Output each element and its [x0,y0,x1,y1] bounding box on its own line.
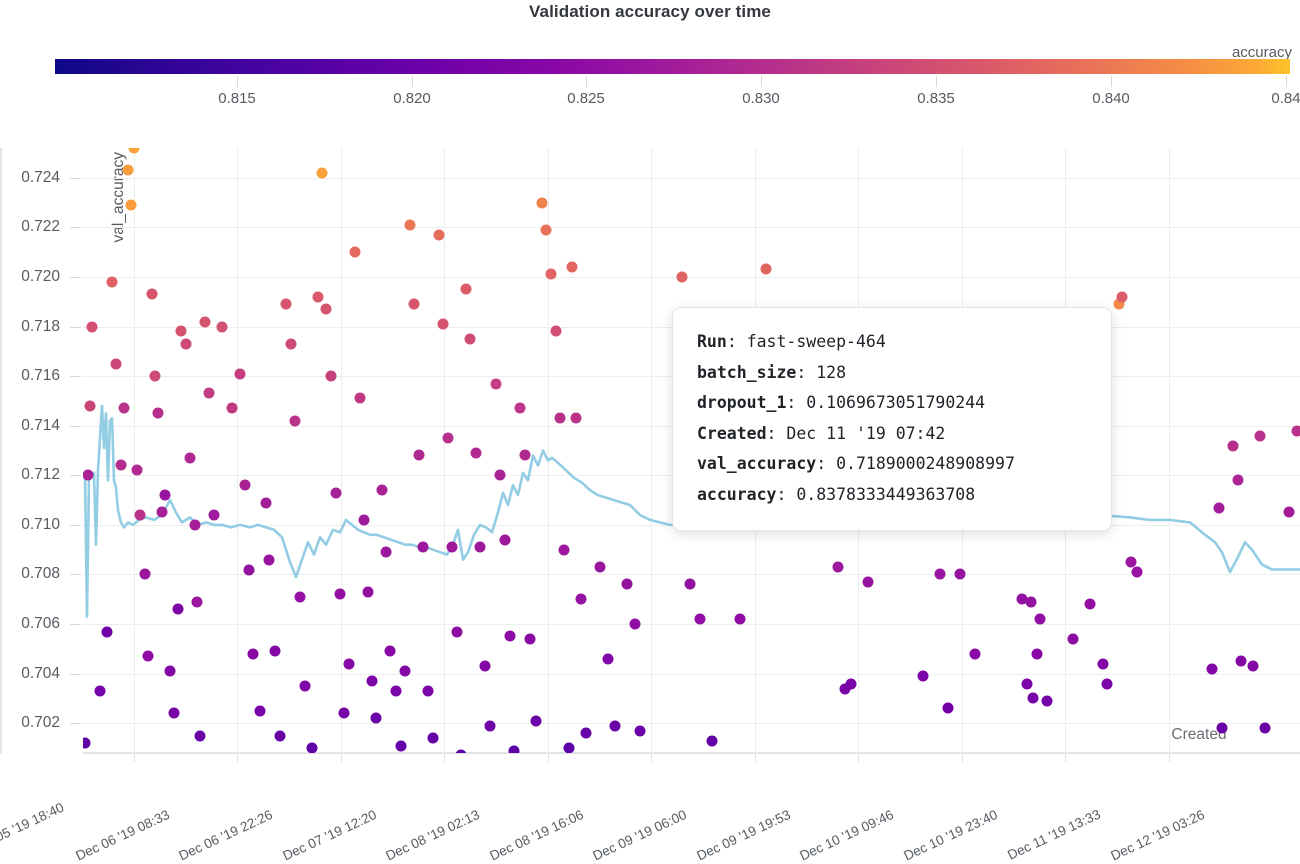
scatter-point[interactable] [571,413,582,424]
scatter-point[interactable] [377,485,388,496]
scatter-point[interactable] [423,686,434,697]
tooltip-value: 0.1069673051790244 [806,393,985,412]
scatter-point[interactable] [176,326,187,337]
scatter-point[interactable] [695,614,706,625]
scatter-point[interactable] [685,579,696,590]
chart-root: Validation accuracy over time accuracy 0… [0,0,1300,864]
x-tick-mark [1065,754,1066,762]
scatter-point[interactable] [735,614,746,625]
scatter-point[interactable] [1233,475,1244,486]
scatter-point[interactable] [438,319,449,330]
scatter-point[interactable] [400,666,411,677]
tooltip-row: batch_size: 128 [697,358,1087,389]
scatter-point[interactable] [935,569,946,580]
scatter-point[interactable] [418,542,429,553]
scatter-point[interactable] [414,450,425,461]
scatter-point[interactable] [339,708,350,719]
tooltip-separator: : [816,454,836,473]
scatter-point[interactable] [509,745,520,753]
scatter-point[interactable] [367,676,378,687]
scatter-point[interactable] [610,720,621,731]
scatter-point[interactable] [317,167,328,178]
x-tick-label: Dec 08 '19 16:06 [487,807,585,864]
scatter-point[interactable] [85,400,96,411]
x-tick-label: Dec 09 '19 19:53 [694,807,792,864]
x-tick-label: Dec 11 '19 13:33 [1005,807,1103,863]
scatter-point[interactable] [537,197,548,208]
scatter-point[interactable] [1255,430,1266,441]
scatter-point[interactable] [405,219,416,230]
x-tick-label: Dec 10 '19 09:46 [797,807,895,864]
scatter-point[interactable] [1032,648,1043,659]
scatter-point[interactable] [143,651,154,662]
y-tick-label: 0.710 [0,516,60,534]
scatter-point[interactable] [123,165,134,176]
scatter-point[interactable] [359,514,370,525]
tooltip-separator: : [727,332,747,351]
tooltip-row: accuracy: 0.8378333449363708 [697,480,1087,511]
colorbar-tick [936,76,937,87]
colorbar-tick [761,76,762,87]
scatter-point[interactable] [1085,599,1096,610]
y-tick-label: 0.708 [0,565,60,583]
scatter-point[interactable] [295,591,306,602]
colorbar-tick-label: 0.830 [742,90,780,107]
scatter-point[interactable] [147,289,158,300]
y-tick-mark [70,227,81,228]
y-tick-mark [70,327,81,328]
scatter-point[interactable] [480,661,491,672]
scatter-point[interactable] [603,653,614,664]
scatter-point[interactable] [240,480,251,491]
x-tick-mark [651,754,652,762]
y-tick-label: 0.704 [0,665,60,683]
tooltip-key: dropout_1 [697,393,786,412]
tooltip-value: 0.8378333449363708 [796,485,975,504]
colorbar-tick-label: 0.84 [1271,90,1300,107]
scatter-point[interactable] [918,671,929,682]
colorbar-tick-label: 0.815 [218,90,256,107]
colorbar-tick-label: 0.825 [567,90,605,107]
scatter-point[interactable] [132,465,143,476]
scatter-point[interactable] [1236,656,1247,667]
scatter-point[interactable] [173,604,184,615]
scatter-point[interactable] [119,403,130,414]
x-tick-mark [134,754,135,762]
scatter-point[interactable] [160,490,171,501]
scatter-point[interactable] [385,646,396,657]
scatter-point[interactable] [204,388,215,399]
tooltip-value: 0.7189000248908997 [836,454,1015,473]
scatter-point[interactable] [581,728,592,739]
scatter-point[interactable] [515,403,526,414]
scatter-point[interactable] [1292,425,1300,436]
tooltip-key: batch_size [697,363,796,382]
scatter-point[interactable] [1035,614,1046,625]
scatter-point[interactable] [833,562,844,573]
scatter-point[interactable] [630,619,641,630]
y-axis-line [0,148,2,754]
tooltip-separator: : [786,393,806,412]
y-tick-label: 0.718 [0,318,60,336]
x-tick-mark [548,754,549,762]
scatter-point[interactable] [970,648,981,659]
y-tick-label: 0.722 [0,218,60,236]
y-tick-mark [70,674,81,675]
scatter-point[interactable] [546,269,557,280]
tooltip-value: 128 [816,363,846,382]
x-tick-label: Dec 09 '19 06:00 [590,807,688,864]
scatter-point[interactable] [381,547,392,558]
scatter-point[interactable] [622,579,633,590]
colorbar-tick-label: 0.840 [1092,90,1130,107]
scatter-point[interactable] [261,497,272,508]
scatter-point[interactable] [452,626,463,637]
scatter-point[interactable] [428,733,439,744]
scatter-point[interactable] [567,262,578,273]
scatter-point[interactable] [107,276,118,287]
scatter-point[interactable] [475,542,486,553]
scatter-point[interactable] [495,470,506,481]
x-tick-label: c 05 '19 18:40 [0,800,66,849]
scatter-point[interactable] [264,554,275,565]
y-tick-mark [70,178,81,179]
scatter-point[interactable] [300,681,311,692]
x-tick-mark [755,754,756,762]
scatter-point[interactable] [559,544,570,555]
scatter-point[interactable] [87,321,98,332]
scatter-point[interactable] [248,648,259,659]
scatter-point[interactable] [102,626,113,637]
x-tick-label: Dec 10 '19 23:40 [901,807,999,864]
scatter-point[interactable] [863,576,874,587]
scatter-point[interactable] [525,633,536,644]
scatter-point[interactable] [1022,678,1033,689]
scatter-point[interactable] [1214,502,1225,513]
tooltip-row: val_accuracy: 0.7189000248908997 [697,449,1087,480]
scatter-point[interactable] [227,403,238,414]
x-tick-mark [237,754,238,762]
scatter-point[interactable] [1248,661,1259,672]
tooltip-value: Dec 11 '19 07:42 [786,424,945,443]
scatter-point[interactable] [1260,723,1271,734]
x-tick-label: Dec 06 '19 08:33 [73,807,171,864]
scatter-point[interactable] [363,586,374,597]
scatter-point[interactable] [391,686,402,697]
scatter-point[interactable] [350,247,361,258]
scatter-point[interactable] [111,358,122,369]
scatter-point[interactable] [270,646,281,657]
scatter-point[interactable] [275,730,286,741]
tooltip-separator: : [796,363,816,382]
y-tick-label: 0.724 [0,169,60,187]
colorbar-tick [1111,76,1112,87]
scatter-point[interactable] [1042,695,1053,706]
y-tick-label: 0.716 [0,367,60,385]
scatter-point[interactable] [331,487,342,498]
colorbar-tick [412,76,413,87]
scatter-point[interactable] [1217,723,1228,734]
scatter-point[interactable] [1026,596,1037,607]
scatter-point[interactable] [564,743,575,753]
x-tick-label: Dec 08 '19 02:13 [383,807,481,864]
scatter-point[interactable] [551,326,562,337]
scatter-point[interactable] [200,316,211,327]
scatter-point[interactable] [943,703,954,714]
scatter-point[interactable] [209,509,220,520]
scatter-point[interactable] [434,229,445,240]
y-tick-mark [70,277,81,278]
scatter-point[interactable] [326,371,337,382]
y-tick-mark [70,574,81,575]
scatter-point[interactable] [1068,633,1079,644]
tooltip-row: dropout_1: 0.1069673051790244 [697,388,1087,419]
scatter-point[interactable] [126,200,137,211]
y-tick-mark [70,376,81,377]
scatter-point[interactable] [447,542,458,553]
x-tick-mark [962,754,963,762]
scatter-point[interactable] [321,304,332,315]
scatter-point[interactable] [371,713,382,724]
scatter-point[interactable] [761,264,772,275]
x-tick-mark [1169,754,1170,762]
scatter-point[interactable] [116,460,127,471]
y-tick-mark [70,723,81,724]
scatter-point[interactable] [185,452,196,463]
scatter-point[interactable] [192,596,203,607]
scatter-point[interactable] [396,740,407,751]
scatter-point[interactable] [150,371,161,382]
colorbar-legend: accuracy 0.8150.8200.8250.8300.8350.8400… [0,44,1300,124]
scatter-point[interactable] [313,291,324,302]
y-tick-label: 0.714 [0,417,60,435]
scatter-point[interactable] [505,631,516,642]
scatter-point[interactable] [165,666,176,677]
tooltip-value: fast-sweep-464 [747,332,886,351]
scatter-point[interactable] [290,415,301,426]
scatter-point[interactable] [181,338,192,349]
scatter-point[interactable] [335,589,346,600]
colorbar-tick [237,76,238,87]
scatter-point[interactable] [169,708,180,719]
y-tick-label: 0.702 [0,714,60,732]
scatter-point[interactable] [140,569,151,580]
y-tick-label: 0.712 [0,466,60,484]
scatter-point[interactable] [135,509,146,520]
scatter-point[interactable] [531,715,542,726]
scatter-point[interactable] [235,368,246,379]
scatter-point[interactable] [1284,507,1295,518]
scatter-point[interactable] [465,333,476,344]
scatter-point[interactable] [707,735,718,746]
scatter-point[interactable] [541,224,552,235]
scatter-point[interactable] [677,271,688,282]
x-tick-mark [341,754,342,762]
scatter-point[interactable] [491,378,502,389]
scatter-point[interactable] [344,658,355,669]
scatter-point[interactable] [1132,566,1143,577]
colorbar-tick-label: 0.820 [393,90,431,107]
tooltip-key: val_accuracy [697,454,816,473]
scatter-point[interactable] [1102,678,1113,689]
y-tick-mark [70,525,81,526]
scatter-point[interactable] [153,408,164,419]
scatter-point[interactable] [576,594,587,605]
tooltip-key: Run [697,332,727,351]
scatter-point[interactable] [1028,693,1039,704]
scatter-point[interactable] [485,720,496,731]
page-title: Validation accuracy over time [0,2,1300,22]
x-tick-label: Dec 07 '19 12:20 [280,807,378,864]
scatter-point[interactable] [307,743,318,753]
scatter-point[interactable] [1207,663,1218,674]
y-tick-label: 0.720 [0,268,60,286]
colorbar-tick-label: 0.835 [917,90,955,107]
scatter-point[interactable] [1117,291,1128,302]
scatter-point[interactable] [281,299,292,310]
scatter-point[interactable] [555,413,566,424]
run-tooltip: Run: fast-sweep-464batch_size: 128dropou… [672,307,1112,531]
scatter-point[interactable] [1098,658,1109,669]
scatter-point[interactable] [500,534,511,545]
scatter-point[interactable] [83,470,94,481]
scatter-point[interactable] [409,299,420,310]
scatter-point[interactable] [461,284,472,295]
scatter-point[interactable] [520,450,531,461]
scatter-point[interactable] [95,686,106,697]
scatter-point[interactable] [255,705,266,716]
scatter-point[interactable] [1228,440,1239,451]
scatter-point[interactable] [217,321,228,332]
scatter-point[interactable] [955,569,966,580]
colorbar-tick [586,76,587,87]
tooltip-separator: : [767,424,787,443]
scatter-point[interactable] [595,562,606,573]
y-tick-mark [70,475,81,476]
y-tick-label: 0.706 [0,615,60,633]
tooltip-separator: : [776,485,796,504]
colorbar-gradient [55,59,1290,74]
x-tick-mark [858,754,859,762]
scatter-point[interactable] [846,678,857,689]
tooltip-key: accuracy [697,485,776,504]
x-tick-mark [444,754,445,762]
scatter-point[interactable] [286,338,297,349]
scatter-point[interactable] [190,519,201,530]
tooltip-row: Created: Dec 11 '19 07:42 [697,419,1087,450]
scatter-point[interactable] [443,433,454,444]
y-tick-mark [70,624,81,625]
scatter-point[interactable] [471,447,482,458]
x-tick-label: Dec 06 '19 22:26 [176,807,274,864]
scatter-point[interactable] [355,393,366,404]
y-tick-mark [70,426,81,427]
tooltip-row: Run: fast-sweep-464 [697,327,1087,358]
scatter-point[interactable] [157,507,168,518]
scatter-point[interactable] [244,564,255,575]
x-tick-label: Dec 12 '19 03:26 [1108,807,1206,864]
tooltip-key: Created [697,424,767,443]
scatter-point[interactable] [195,730,206,741]
scatter-point[interactable] [635,725,646,736]
colorbar-tick [1286,76,1287,87]
